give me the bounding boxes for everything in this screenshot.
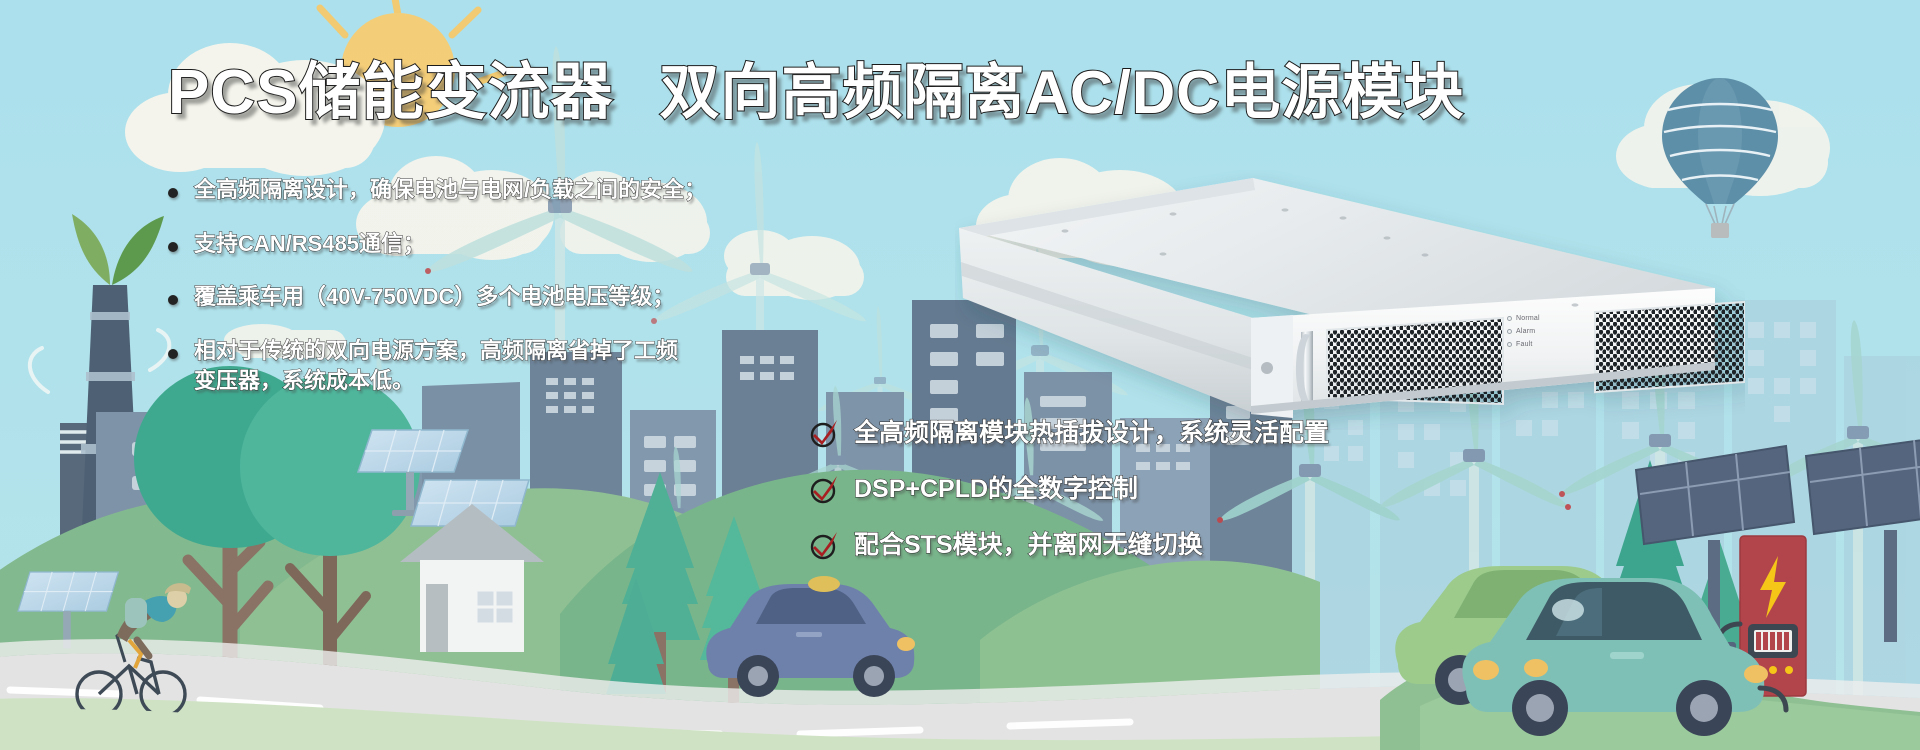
feature-bullet-item: 全高频隔离设计，确保电池与电网/负载之间的安全；: [168, 175, 868, 205]
led-label: Fault: [1516, 341, 1533, 348]
feature-bullet-text: 相对于传统的双向电源方案，高频隔离省掉了工频变压器，系统成本低。: [194, 336, 698, 395]
check-circle-icon: [810, 474, 840, 504]
feature-bullet-text: 覆盖乘车用（40V-750VDC）多个电池电压等级；: [194, 282, 674, 312]
feature-bullet-text: 全高频隔离设计，确保电池与电网/负载之间的安全；: [194, 175, 706, 205]
led-indicator-group: Normal Alarm Fault: [1507, 315, 1540, 348]
led-indicator: Alarm: [1507, 328, 1540, 335]
title-sub: 双向高频隔离AC/DC电源模块: [659, 63, 1464, 123]
bullet-dot-icon: [168, 242, 178, 252]
led-indicator: Normal: [1507, 315, 1540, 322]
led-label: Alarm: [1516, 328, 1535, 335]
title-main: PCS储能变流器: [168, 62, 613, 124]
feature-bullet-item: 覆盖乘车用（40V-750VDC）多个电池电压等级；: [168, 282, 868, 312]
feature-bullet-text: 支持CAN/RS485通信；: [194, 229, 425, 259]
feature-bullet-item: 支持CAN/RS485通信；: [168, 229, 868, 259]
led-label: Normal: [1516, 315, 1540, 322]
highlight-item: 配合STS模块，并离网无缝切换: [810, 530, 1329, 560]
highlight-text: 配合STS模块，并离网无缝切换: [854, 530, 1203, 560]
feature-bullet-list: 全高频隔离设计，确保电池与电网/负载之间的安全； 支持CAN/RS485通信； …: [168, 175, 868, 419]
feature-bullet-item: 相对于传统的双向电源方案，高频隔离省掉了工频变压器，系统成本低。: [168, 336, 698, 395]
banner-title: PCS储能变流器 双向高频隔离AC/DC电源模块: [168, 62, 1464, 124]
led-dot-icon: [1507, 316, 1512, 321]
led-dot-icon: [1507, 342, 1512, 347]
promo-banner: PCS储能变流器 双向高频隔离AC/DC电源模块 全高频隔离设计，确保电池与电网…: [0, 0, 1920, 750]
highlight-item: 全高频隔离模块热插拔设计，系统灵活配置: [810, 418, 1329, 448]
highlight-text: DSP+CPLD的全数字控制: [854, 474, 1138, 504]
bullet-dot-icon: [168, 349, 178, 359]
bullet-dot-icon: [168, 188, 178, 198]
led-dot-icon: [1507, 329, 1512, 334]
bullet-dot-icon: [168, 295, 178, 305]
rack-mount-power-module: [955, 170, 1745, 430]
check-circle-icon: [810, 418, 840, 448]
check-circle-icon: [810, 530, 840, 560]
highlight-text: 全高频隔离模块热插拔设计，系统灵活配置: [854, 418, 1329, 448]
led-indicator: Fault: [1507, 341, 1540, 348]
highlight-item: DSP+CPLD的全数字控制: [810, 474, 1329, 504]
highlight-list: 全高频隔离模块热插拔设计，系统灵活配置 DSP+CPLD的全数字控制 配合STS…: [810, 418, 1329, 586]
product-device-image: Normal Alarm Fault: [955, 170, 1745, 430]
